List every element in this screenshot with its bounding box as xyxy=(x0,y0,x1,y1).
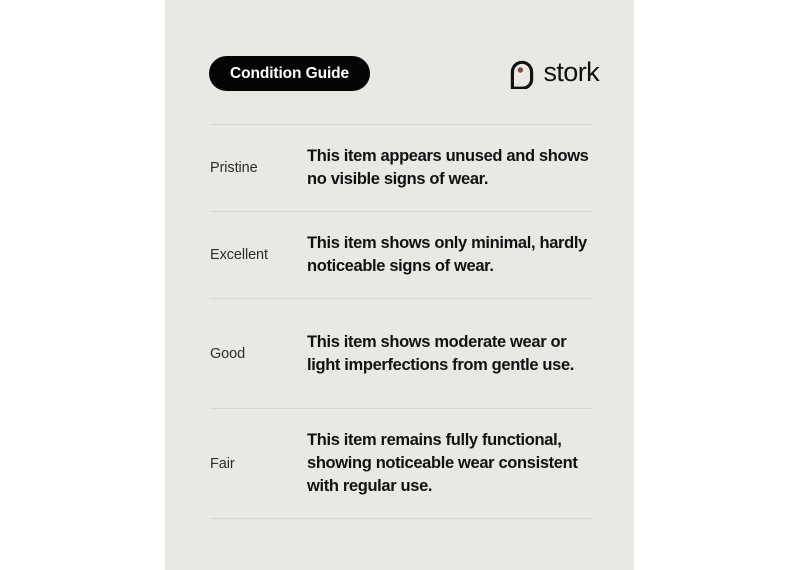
condition-table: Pristine This item appears unused and sh… xyxy=(210,124,592,519)
brand-name: stork xyxy=(543,59,599,88)
stork-arch-logo-icon xyxy=(509,59,535,89)
page-root: Condition Guide stork Pristine This item… xyxy=(0,0,800,570)
table-row: Good This item shows moderate wear or li… xyxy=(210,299,592,408)
table-row: Excellent This item shows only minimal, … xyxy=(210,212,592,298)
condition-description: This item remains fully functional, show… xyxy=(307,429,592,497)
condition-description: This item shows moderate wear or light i… xyxy=(307,331,592,377)
condition-description: This item shows only minimal, hardly not… xyxy=(307,232,592,278)
condition-description: This item appears unused and shows no vi… xyxy=(307,145,592,191)
condition-guide-badge: Condition Guide xyxy=(209,56,370,91)
condition-grade: Pristine xyxy=(210,160,307,176)
condition-grade: Good xyxy=(210,346,307,362)
condition-grade: Fair xyxy=(210,456,307,472)
brand-lockup: stork xyxy=(509,56,599,91)
table-row: Fair This item remains fully functional,… xyxy=(210,409,592,518)
card-header: Condition Guide stork xyxy=(209,56,593,92)
condition-guide-card: Condition Guide stork Pristine This item… xyxy=(165,0,634,570)
condition-grade: Excellent xyxy=(210,247,307,263)
table-row: Pristine This item appears unused and sh… xyxy=(210,125,592,211)
row-divider xyxy=(210,518,592,519)
